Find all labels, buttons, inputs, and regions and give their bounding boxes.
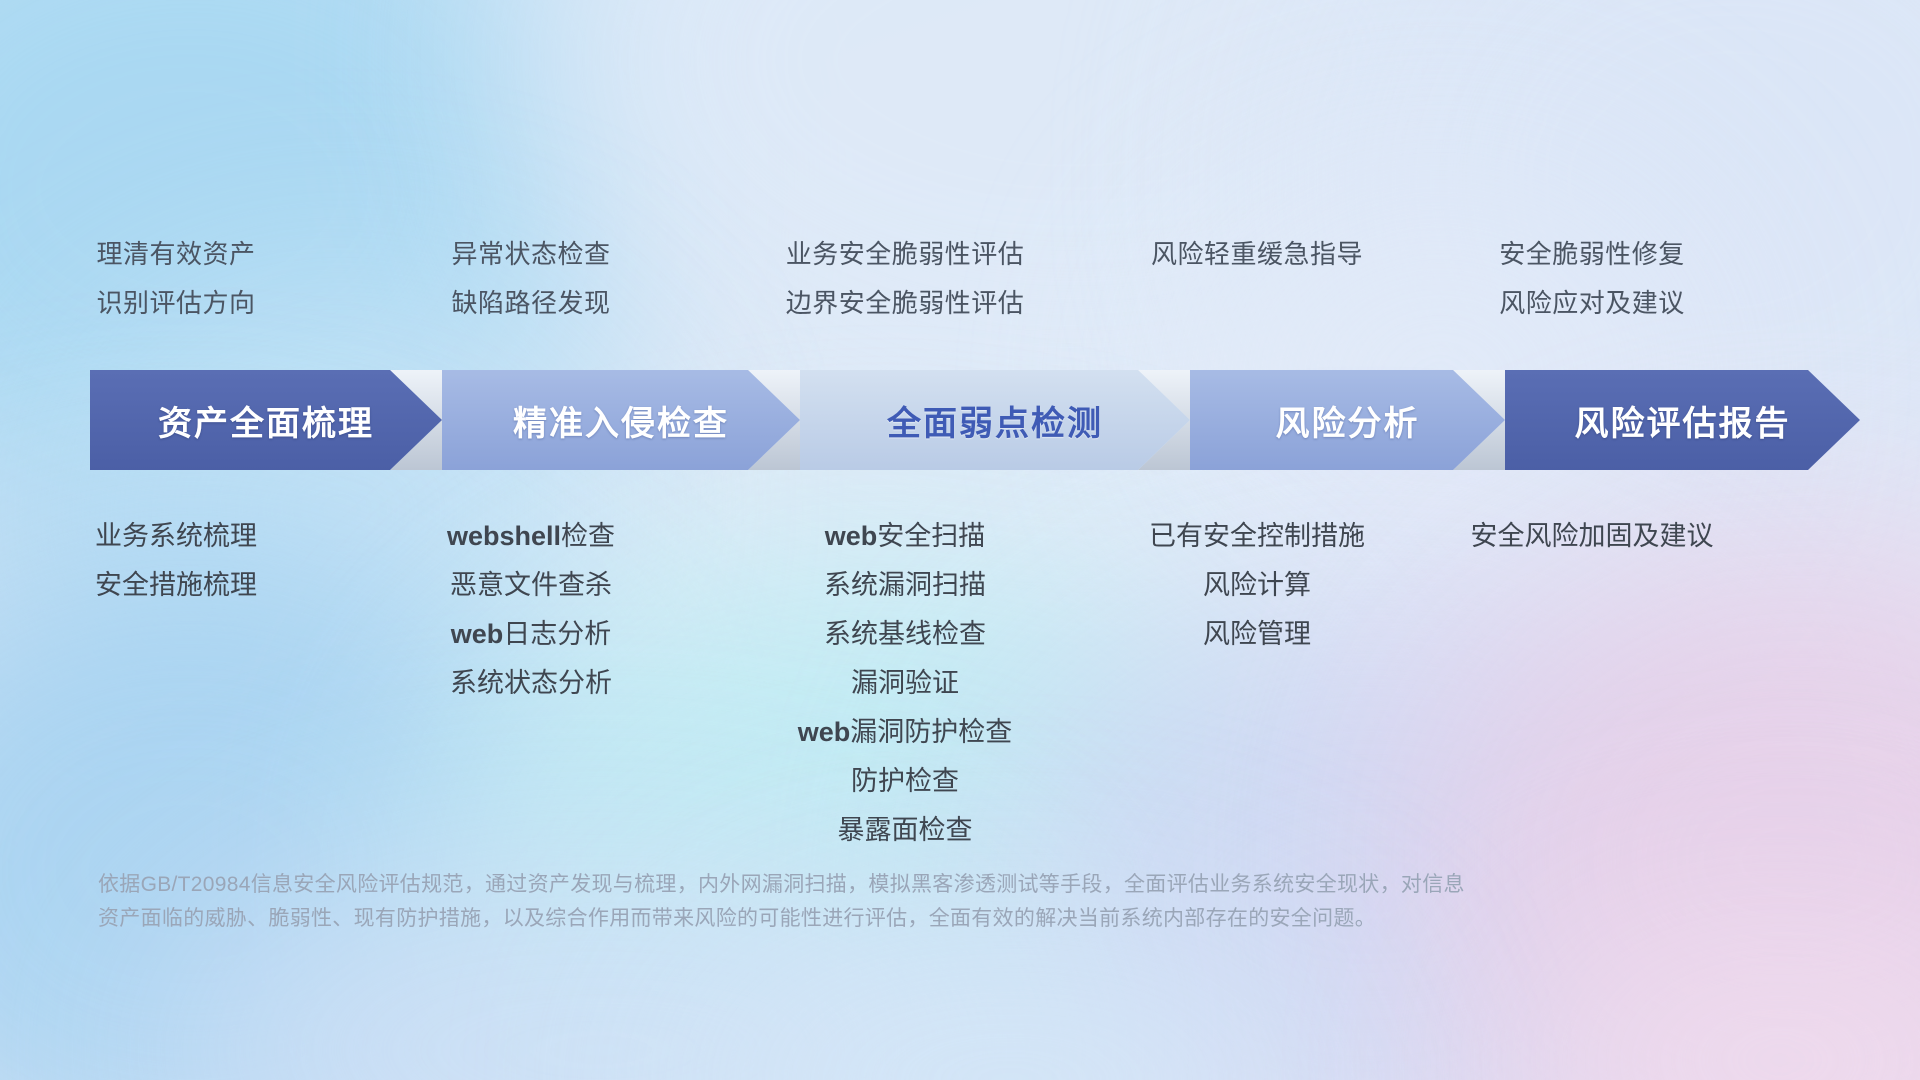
detail-line: 安全风险加固及建议: [632, 512, 1920, 561]
note-line: 安全脆弱性修复: [632, 230, 1920, 279]
stage-title: 风险分析: [1276, 396, 1420, 445]
detail-line: 风险管理: [297, 610, 1920, 659]
detail-line: 防护检查: [0, 757, 1865, 806]
footer-description: 依据GB/T20984信息安全风险评估规范，通过资产发现与梳理，内外网漏洞扫描，…: [98, 868, 1638, 936]
detail-line-suffix: 漏洞防护检查: [850, 717, 1012, 747]
process-diagram: 理清有效资产 识别评估方向 异常状态检查 缺陷路径发现 业务安全脆弱性评估 边界…: [0, 0, 1920, 1080]
detail-line: web漏洞防护检查: [0, 708, 1865, 757]
stage-chevron-risk-analysis[interactable]: 风险分析: [1190, 370, 1505, 470]
stage-title: 资产全面梳理: [158, 396, 374, 445]
stage-chevron-intrusion-check[interactable]: 精准入侵检查: [442, 370, 800, 470]
stage-title: 全面弱点检测: [887, 396, 1103, 445]
footer-line-1: 依据GB/T20984信息安全风险评估规范，通过资产发现与梳理，内外网漏洞扫描，…: [98, 868, 1638, 902]
process-chevron-band: 资产全面梳理 精准入侵检查 全面弱点检测 风险分析 风险评估报告: [90, 370, 1860, 470]
detail-line: 漏洞验证: [0, 659, 1865, 708]
detail-line: 风险计算: [297, 561, 1920, 610]
footer-line-2: 资产面临的威胁、脆弱性、现有防护措施，以及综合作用而带来风险的可能性进行评估，全…: [98, 902, 1638, 936]
detail-line: 暴露面检查: [0, 806, 1865, 855]
stage-chevron-asset-inventory[interactable]: 资产全面梳理: [90, 370, 442, 470]
stage-title: 精准入侵检查: [513, 396, 729, 445]
stage-title: 风险评估报告: [1575, 396, 1791, 445]
stage-notes-risk-report: 安全脆弱性修复 风险应对及建议: [632, 230, 1920, 328]
stage-chevron-weakness-detection[interactable]: 全面弱点检测: [800, 370, 1190, 470]
stage-chevron-risk-report[interactable]: 风险评估报告: [1505, 370, 1860, 470]
stage-details-risk-report: 安全风险加固及建议: [632, 512, 1920, 561]
note-line: 风险应对及建议: [632, 279, 1920, 328]
